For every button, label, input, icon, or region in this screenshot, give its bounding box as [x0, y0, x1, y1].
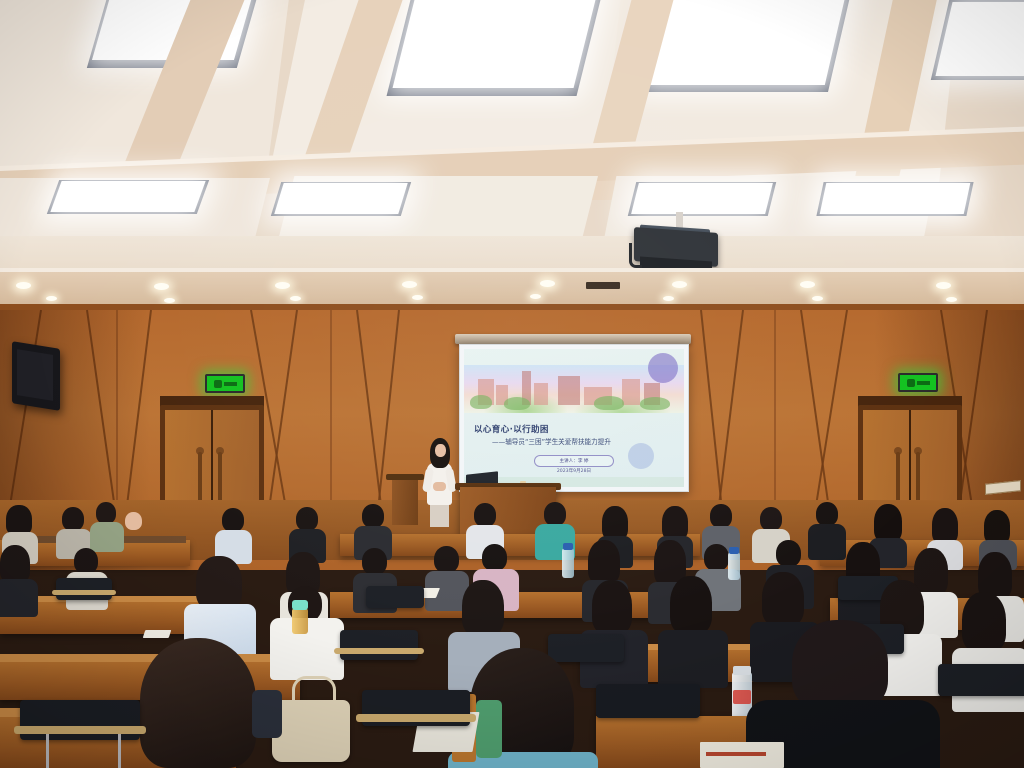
downlight	[154, 283, 169, 290]
downlight	[672, 281, 687, 288]
exit-running-man-icon	[214, 380, 222, 388]
projector-cable	[629, 243, 642, 268]
exit-running-man-icon	[907, 379, 915, 387]
ceiling-light-panel	[631, 183, 773, 214]
projection-screen: 以心育心·以行助困 ——辅导员“三困”学生关爱帮扶能力提升 主讲人：李 婷 20…	[459, 344, 689, 492]
green-thermos	[476, 700, 502, 758]
chair[interactable]	[548, 634, 624, 662]
downlight	[540, 280, 555, 287]
downlight	[164, 298, 175, 303]
ceiling	[0, 0, 1024, 300]
bottle-cap	[733, 666, 751, 675]
bottle-cap	[563, 543, 573, 550]
slide-decor-circle-2	[628, 443, 654, 469]
downlight	[275, 282, 290, 289]
tea-bottle	[292, 608, 308, 634]
chair[interactable]	[366, 586, 424, 608]
papers-on-desk	[143, 630, 172, 638]
bottle-cap	[729, 547, 739, 554]
downlight	[800, 281, 815, 288]
downlight	[946, 297, 957, 302]
exit-sign-right	[898, 373, 938, 392]
slide-presenter-pill: 主讲人：李 婷	[534, 455, 614, 467]
water-bottle	[728, 552, 740, 580]
downlight	[402, 281, 417, 288]
slide-decor-circle	[648, 353, 678, 383]
slide-subtitle: ——辅导员“三困”学生关爱帮扶能力提升	[492, 436, 682, 446]
downlight	[46, 296, 57, 301]
side-lectern-top	[386, 474, 424, 480]
bottle-label	[733, 690, 751, 704]
ceiling-vent	[586, 282, 620, 289]
presenter-face	[435, 444, 446, 457]
downlight	[290, 296, 301, 301]
downlight	[936, 282, 951, 289]
handbag-handle	[292, 676, 336, 705]
chair-arm	[334, 648, 424, 654]
downlight	[530, 294, 541, 299]
exit-door-icon	[917, 381, 930, 385]
booklet-title-band	[706, 752, 766, 756]
chair[interactable]	[20, 700, 140, 740]
desk-row	[340, 534, 700, 556]
downlight	[812, 296, 823, 301]
presenter-hands	[433, 482, 446, 491]
downlight	[16, 282, 31, 289]
chair[interactable]	[938, 664, 1024, 696]
ceiling-light-panel	[644, 0, 847, 85]
chair-leg	[46, 734, 49, 768]
lecture-hall-photo: 以心育心·以行助困 ——辅导员“三困”学生关爱帮扶能力提升 主讲人：李 婷 20…	[0, 0, 1024, 768]
ceiling-light-panel	[50, 181, 205, 212]
exit-sign-left	[205, 374, 245, 393]
presenter-legs	[430, 503, 449, 527]
speaker-grille	[17, 349, 53, 401]
handbag	[272, 700, 350, 762]
ceiling-light-panel	[393, 0, 599, 88]
side-lectern	[392, 479, 418, 525]
desk-edge	[0, 654, 300, 662]
chair-arm	[14, 726, 146, 734]
water-bottle	[562, 548, 574, 578]
screen-roller-housing	[455, 334, 691, 344]
chair-arm	[356, 714, 476, 722]
tea-bottle-cap	[292, 600, 308, 610]
chair-arm	[52, 590, 116, 595]
bag-strap	[252, 690, 282, 738]
ceiling-light-panel	[274, 183, 407, 214]
chair-leg	[118, 734, 121, 768]
presentation-slide: 以心育心·以行助困 ——辅导员“三困”学生关爱帮扶能力提升 主讲人：李 婷 20…	[464, 349, 684, 487]
chair[interactable]	[56, 578, 112, 600]
downlight	[663, 296, 674, 301]
exit-door-icon	[224, 382, 237, 386]
slide-title: 以心育心·以行助困	[474, 423, 674, 435]
ceiling-light-panel	[820, 183, 971, 214]
downlight	[412, 295, 423, 300]
chair[interactable]	[596, 684, 700, 718]
chair[interactable]	[340, 630, 418, 660]
